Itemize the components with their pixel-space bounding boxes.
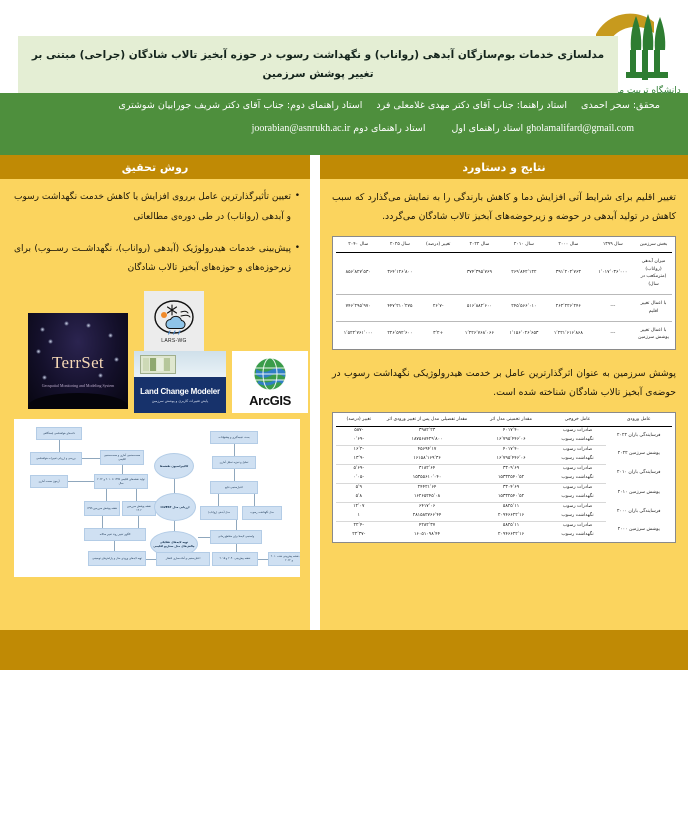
cell: ۲۴۴۲۱٬۶۴ [382, 483, 473, 493]
advisor-label: استاد راهنمای دوم: جناب آقای دکتر شریف ج… [118, 99, 362, 114]
cell: ۳۳۰۹٬۶۹ [473, 464, 550, 474]
th-1: سال ۱۳۹۹ [591, 239, 635, 252]
researcher-label: محقق: سحر احمدی [581, 99, 660, 114]
cell: ۵۱۶٬۸۸۲٬۶۰۰ [457, 294, 501, 321]
th-5: تغییر (درصد) [419, 239, 457, 252]
method-body: تعیین تأثیرگذارترین عامل برروی افزایش یا… [0, 179, 310, 670]
results-body: تغییر اقلیم برای شرایط آتی افزایش دما و … [320, 179, 688, 670]
cell: ۱٬۰۱۷٬۰۳۶٬۰۰۰ [591, 252, 635, 294]
cell: ۲۸۱۵۸۲۷۶۶٬۴۴ [382, 512, 473, 522]
supervisor-email: gholamalifard@gmail.com [526, 121, 634, 137]
cell: ۳۳۰۴٬۶۹ [473, 483, 550, 493]
cell: --- [591, 294, 635, 321]
table-2-wrapper: عامل ورودی عامل خروجی مقدار تخمینی مدل ا… [332, 412, 676, 543]
cell: ۴۲۸۲٬۳۷ [382, 521, 473, 531]
cell: -۱۳٬۹ [336, 455, 382, 465]
poster-footer [0, 630, 688, 670]
flow-node-n16: مدل نگهداشت رسوب [242, 506, 282, 520]
cell: +۳٬۲ [419, 321, 457, 347]
cell: ۱۵۳۳۲۵۴۰٬۵۲ [473, 474, 550, 484]
flow-node-n7: نقشه پوشش سرزمین ۱۴۰۲ [122, 501, 156, 516]
results-heading: نتایج و دستاورد [320, 155, 688, 179]
flow-node-n13: اعتبارسنجی نتایج [210, 481, 258, 494]
cell: ۴۰۱۷٬۴۰ [473, 426, 550, 436]
flow-node-n21: اعتبارسنجی و آماده‌سازی انتشار [156, 552, 210, 566]
table-row: میزان آبدهی (رواناب) (مترمکعب در سال) ۱٬… [336, 252, 672, 294]
flow-node-n14: تحلیل و تجزیه تحلیل آماری [212, 456, 256, 469]
cell: ۵٬۹ [336, 483, 382, 493]
advisor-email-block: استاد راهنمای دوم joorabian@asnrukh.ac.i… [252, 121, 426, 137]
cell: ۵٬۸ [336, 493, 382, 503]
list-item: پیش‌بینی خدمات هیدرولوژیک (آبدهی (رواناب… [14, 240, 300, 280]
cell: ۱٬۲۲۶٬۷۶۸٬۰۶۶ [457, 321, 501, 347]
table-row: فرسایندگی باران ۲۰۱۰ صادرات رسوب ۳۳۰۹٬۶۹… [336, 464, 672, 474]
cell: نگهداشت رسوب [550, 512, 606, 522]
th-3: سال ۲۰۱۰ [502, 239, 546, 252]
cell: ۲۰۹۴۶۶۲۲٬۱۶ [473, 531, 550, 540]
flow-node-n6: نقشه پوشش سرزمین ۱۳۹۹ [84, 501, 120, 516]
poster-root: دانشگاه تربیت مدرس مدلسازی خدمات بوم‌ساز… [0, 0, 688, 670]
model-factor-sensitivity-table: عامل ورودی عامل خروجی مقدار تخمینی مدل ا… [336, 415, 672, 540]
cell: نگهداشت رسوب [550, 493, 606, 503]
cell: ۱۶۰۵۱۰۹۸٬۴۴ [382, 531, 473, 540]
terrset-sublabel: Geospatial Monitoring and Modeling Syste… [28, 383, 128, 388]
cell: ۱۲٬۰۷ [336, 502, 382, 512]
flow-node-n4: تولید نقشه‌های اقلیمی ۱۳۹۹ تا ۲۰۱۰ و ۲۰۲… [94, 474, 148, 489]
cell: -۵۸۷ [336, 426, 382, 436]
row-input: فرسایندگی باران ۲۰۲۲ [606, 426, 672, 445]
flow-node-n10: کالیبراسیون نقشه‌ها [154, 453, 194, 479]
flow-node-n3: صحت‌سنجی آماری و صحت‌سنجی اقلیمی [100, 450, 144, 465]
arcgis-label: ArcGIS [249, 393, 291, 408]
research-methodology-flowchart: داده‌های هواشناسی ایستگاهی بررسی و ارزیا… [14, 419, 300, 577]
lcm-thumbnail [140, 355, 176, 374]
flow-node-n18: واسنجی لایه‌ها برای مقاطع زمانی [210, 530, 262, 544]
cell: ۱٬۲۲۱٬۶۱۶٬۸۶۸ [546, 321, 590, 347]
cell: -۰٬۶۹ [336, 436, 382, 446]
cell: ۳۹۱٬۲۰۲٬۷۶۳ [546, 252, 590, 294]
th-4: تغییر (درصد) [336, 415, 382, 426]
cell: ۴۵۶۹۴٬۱۷ [382, 445, 473, 455]
table-row: پوشش سرزمین ۲۰۱۰ صادرات رسوب ۳۳۰۴٬۶۹ ۲۴۴… [336, 483, 672, 493]
cell: -۰٬۰۵ [336, 474, 382, 484]
flow-node-n5: آزمون صحت آماری [30, 475, 68, 488]
results-paragraph-1: تغییر اقلیم برای شرایط آتی افزایش دما و … [332, 188, 676, 226]
cell: ۱۵۳۵۵۶۱۰٬۰۴۰ [382, 474, 473, 484]
supervisor-label: استاد راهنما: جناب آقای دکتر مهدی غلامعل… [376, 99, 567, 114]
row-input: پوشش سرزمین ۲۰۱۰ [606, 483, 672, 502]
table-row: فرسایندگی باران ۲۰۰۰ صادرات رسوب ۵۸۲۵٬۱۱… [336, 502, 672, 512]
row-input: فرسایندگی باران ۲۰۰۰ [606, 502, 672, 521]
table-header-row: بخش سرزمین سال ۱۳۹۹ سال ۲۰۰۰ سال ۲۰۱۰ سا… [336, 239, 672, 252]
cell: ۱۶٬۷۹۵٬۴۴۶٬۰۶ [473, 436, 550, 446]
cell: صادرات رسوب [550, 521, 606, 531]
lcm-sublabel: پایش تغییرات کاربری و پوشش سرزمین [152, 399, 208, 403]
flow-node-n11: ارزیابی مدل InVEST [154, 493, 196, 521]
lars-wg-logo: LARS-WG [144, 291, 204, 351]
cell: ۵۸۲۵٬۱۱ [473, 521, 550, 531]
th-6: سال ۲۰۲۵ [380, 239, 419, 252]
th-1: عامل خروجی [550, 415, 606, 426]
cell: ۳۹۸۲٬۲۳ [382, 426, 473, 436]
poster-header: دانشگاه تربیت مدرس مدلسازی خدمات بوم‌ساز… [0, 0, 688, 155]
cell: ۴۰۱۷٬۴۰ [473, 445, 550, 455]
flow-node-n17: مدل آبدهی (رواناب) [200, 506, 238, 520]
advisor-email-label: استاد راهنمای دوم [353, 123, 425, 134]
th-0: بخش سرزمین [635, 239, 672, 252]
table-2-body: فرسایندگی باران ۲۰۲۲ صادرات رسوب ۴۰۱۷٬۴۰… [336, 426, 672, 540]
flow-node-n2: بررسی و ارزیابی تغییرات هواشناسی [30, 452, 82, 465]
cell: صادرات رسوب [550, 483, 606, 493]
cell: نگهداشت رسوب [550, 474, 606, 484]
cell: ۱۵۳۳۲۵۴۰٬۵۲ [473, 493, 550, 503]
authors-band: محقق: سحر احمدی استاد راهنما: جناب آقای … [0, 93, 688, 155]
table-row: پوشش سرزمین ۲۰۲۲ صادرات رسوب ۴۰۱۷٬۴۰ ۴۵۶… [336, 445, 672, 455]
cell: -۲۲٬۳۷ [336, 531, 382, 540]
cell: صادرات رسوب [550, 464, 606, 474]
poster-columns: نتایج و دستاورد تغییر اقلیم برای شرایط آ… [0, 155, 688, 670]
cell: --- [591, 321, 635, 347]
cell: ۲۲۶٬۵۹۲٬۶۰۰ [380, 321, 419, 347]
cell: -۲۲٬۴ [336, 521, 382, 531]
flow-node-n20: ارزیابی نقشه پیش‌بینی شده ۲۰۱۰ و ۲۰۲۲ [268, 552, 300, 566]
row-label: با اعمال تغییر پوشش سرزمین [635, 321, 672, 347]
lars-wg-label: LARS-WG [161, 338, 186, 344]
results-column: نتایج و دستاورد تغییر اقلیم برای شرایط آ… [320, 155, 688, 670]
hydrological-services-by-year-table: بخش سرزمین سال ۱۳۹۹ سال ۲۰۰۰ سال ۲۰۱۰ سا… [336, 239, 672, 347]
th-2: مقدار تخمینی مدل اثر [473, 415, 550, 426]
column-divider [310, 310, 320, 825]
table-row: فرسایندگی باران ۲۰۲۲ صادرات رسوب ۴۰۱۷٬۴۰… [336, 426, 672, 436]
table-row: پوشش سرزمین ۲۰۰۰ صادرات رسوب ۵۸۲۵٬۱۱ ۴۲۸… [336, 521, 672, 531]
results-paragraph-2: پوشش سرزمین به عنوان اثرگذارترین عامل بر… [332, 364, 676, 402]
cell: ۲۴۵٬۵۶۶٬۰۱۰ [502, 294, 546, 321]
cell: ۳۶۴٬۱۲۶٬۸۰۰ [380, 252, 419, 294]
page-title: مدلسازی خدمات بوم‌سازگان آبدهی (رواناب) … [26, 46, 610, 83]
cell: -۲۶٬۷ [419, 294, 457, 321]
method-bullet-list: تعیین تأثیرگذارترین عامل برروی افزایش یا… [14, 188, 300, 279]
cell: ۱۶۱۵۸٬۱۶۹٬۳۶ [382, 455, 473, 465]
supervisor-email-label: استاد راهنمای اول [451, 123, 523, 134]
table-1-wrapper: بخش سرزمین سال ۱۳۹۹ سال ۲۰۰۰ سال ۲۰۱۰ سا… [332, 236, 676, 350]
cell: ۱ [336, 512, 382, 522]
cell: صادرات رسوب [550, 502, 606, 512]
cell: نگهداشت رسوب [550, 436, 606, 446]
table-row: با اعمال تغییر اقلیم --- ۲۶۲٬۲۲۶٬۲۴۶ ۲۴۵… [336, 294, 672, 321]
cell: صادرات رسوب [550, 445, 606, 455]
cell: ۳۱۸۲٬۶۴ [382, 464, 473, 474]
flow-node-n15: بحث، نتیجه‌گیری و پیشنهادات [210, 431, 258, 444]
terrset-label: TerrSet [28, 353, 128, 373]
lcm-label: Land Change Modeler [140, 387, 220, 396]
th-7: سال ۲۰۴۰ [336, 239, 380, 252]
th-3: مقدار تفضیلی مدل پس از تغییر ورودی اثر [382, 415, 473, 426]
row-input: پوشش سرزمین ۲۰۰۰ [606, 521, 672, 540]
flow-node-n8: الگوی تغییر روند تغییر سالانه [84, 528, 146, 541]
cell: ۱۶٬۷۹۵٬۴۴۶٬۰۶ [473, 455, 550, 465]
supervisor-email-block: gholamalifard@gmail.com استاد راهنمای او… [451, 121, 634, 137]
th-2: سال ۲۰۰۰ [546, 239, 590, 252]
cell: -۵٬۶۹ [336, 464, 382, 474]
poster-title-band: مدلسازی خدمات بوم‌سازگان آبدهی (رواناب) … [18, 36, 618, 93]
list-item: تعیین تأثیرگذارترین عامل برروی افزایش یا… [14, 188, 300, 228]
cell: نگهداشت رسوب [550, 531, 606, 540]
table-header-row: عامل ورودی عامل خروجی مقدار تخمینی مدل ا… [336, 415, 672, 426]
method-column: روش تحقیق تعیین تأثیرگذارترین عامل برروی… [0, 155, 310, 670]
cell: صادرات رسوب [550, 426, 606, 436]
cell: ۵۸۲۵٬۱۱ [473, 502, 550, 512]
th-0: عامل ورودی [606, 415, 672, 426]
method-heading: روش تحقیق [0, 155, 310, 179]
th-4: سال ۲۰۲۲ [457, 239, 501, 252]
cell: نگهداشت رسوب [550, 455, 606, 465]
cell: -۱۶٬۲ [336, 445, 382, 455]
cell [419, 252, 457, 294]
cell: ۸۵۶٬۸۲۷٬۵۳۰ [336, 252, 380, 294]
row-label: میزان آبدهی (رواناب) (مترمکعب در سال) [635, 252, 672, 294]
software-logo-strip: TerrSet Geospatial Monitoring and Modeli… [14, 291, 300, 413]
row-input: فرسایندگی باران ۲۰۱۰ [606, 464, 672, 483]
land-change-modeler-logo: Land Change Modeler پایش تغییرات کاربری … [134, 351, 226, 413]
cell: ۴۴۷٬۲۱۰٬۲۷۵ [380, 294, 419, 321]
advisor-email: joorabian@asnrukh.ac.ir [252, 121, 351, 137]
table-row: با اعمال تغییر پوشش سرزمین --- ۱٬۲۲۱٬۶۱۶… [336, 321, 672, 347]
cell: ۱٬۵۲۲٬۷۶۱٬۰۰۰ [336, 321, 380, 347]
cell: ۶۴۱۷٬۰۶ [382, 502, 473, 512]
row-label: با اعمال تغییر اقلیم [635, 294, 672, 321]
arcgis-logo: ArcGIS [232, 351, 308, 413]
flow-node-n1: داده‌های هواشناسی ایستگاهی [36, 427, 82, 440]
row-input: پوشش سرزمین ۲۰۲۲ [606, 445, 672, 464]
flow-node-n19: نقشه پیش‌بینی ۲۰۴۰ و ۲۰۱۵ [212, 552, 258, 566]
flow-node-n9: تهیه لایه‌های ورودی مدل و پارامترهای توص… [88, 551, 146, 566]
cell: ۲۶۲٬۲۲۶٬۲۴۶ [546, 294, 590, 321]
cell: ۱٬۱۵۶٬۰۲۶٬۶۵۳ [502, 321, 546, 347]
cell: ۷۴۶٬۲۹۵٬۹۷۰ [336, 294, 380, 321]
cell: ۳۷۴٬۳۹۵٬۷۶۹ [457, 252, 501, 294]
cell: ۱۸۷۵۶۸۴۲۹٬۸۰۰ [382, 436, 473, 446]
cell: ۱۶۲۶۵۲۴۵٬۰۸ [382, 493, 473, 503]
terrset-logo: TerrSet Geospatial Monitoring and Modeli… [28, 313, 128, 409]
cell: ۲۰۹۴۶۶۲۲٬۱۶ [473, 512, 550, 522]
cell: ۲۶۹٬۸۴۲٬۱۲۲ [502, 252, 546, 294]
